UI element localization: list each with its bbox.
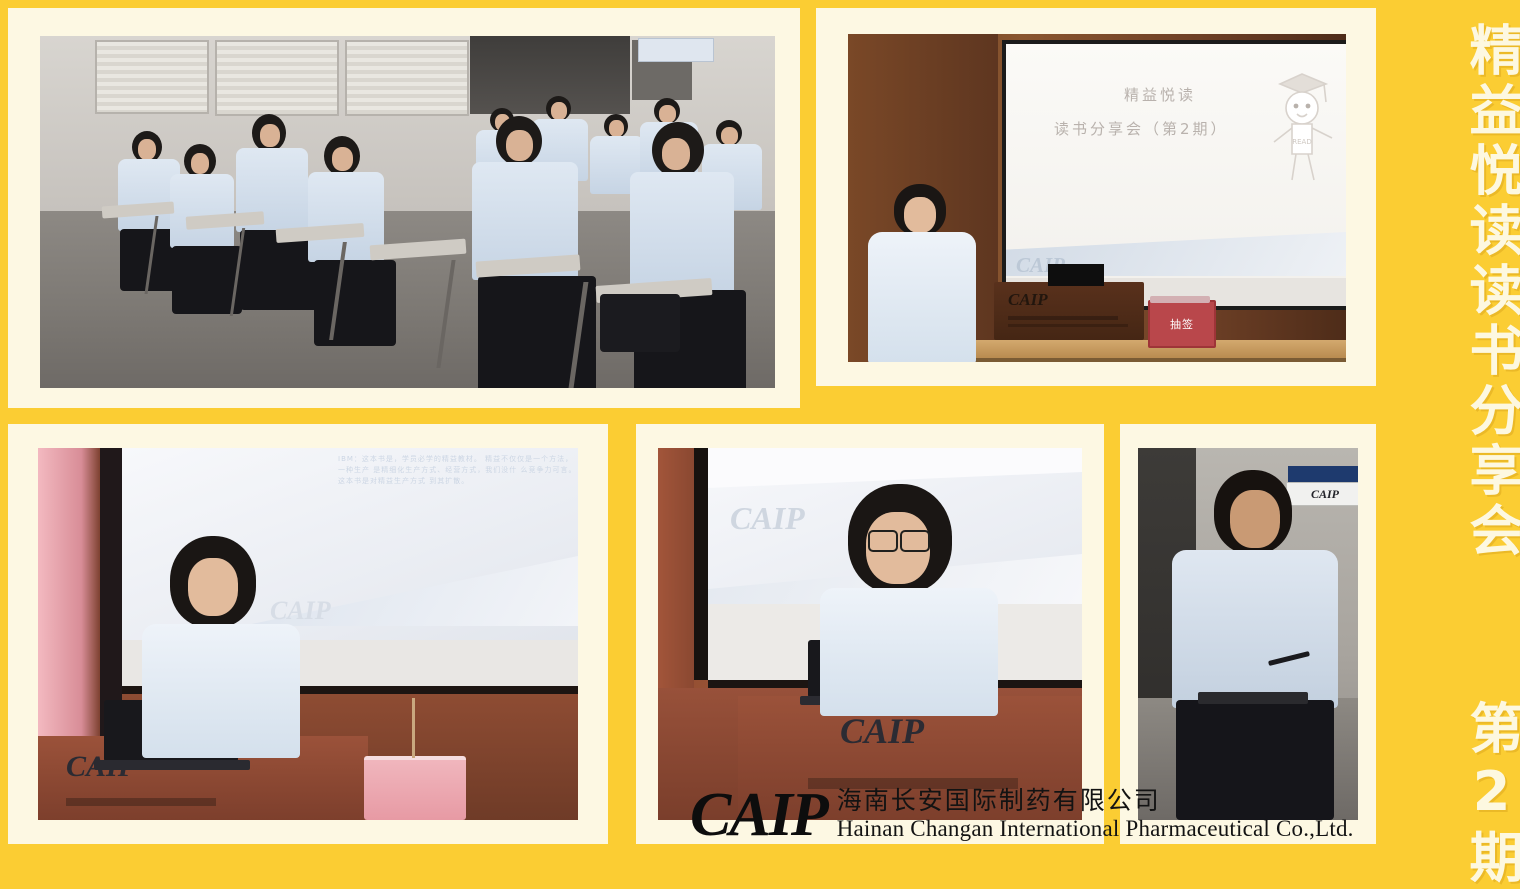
photo-frame-speaker-with-slide: 精益悦读 读书分享会（第2期） [816,8,1376,386]
lottery-box-label: 抽签 [1170,316,1194,332]
company-name-english: Hainan Changan International Pharmaceuti… [837,816,1354,842]
window-blind-3 [345,40,469,116]
empty-chair [600,294,680,352]
slide-body-text: IBM：这本书是，学员必学的精益教材。 精益不仅仅是一个方法，一种生产 是精细化… [338,454,578,487]
pink-lottery-box [364,756,466,820]
poster-canvas: 精益悦读 读书分享会（第2期） [0,0,1520,858]
photo-frame-presenter-right: CAIP [1120,424,1376,844]
company-logo-footer: CAIP 海南长安国际制药有限公司 Hainan Changan Interna… [690,784,1354,846]
slide-line2: 读书分享会（第2期） [1054,118,1229,139]
presenter-figure [868,184,978,362]
classroom-scene [40,36,775,388]
front-table-edge [966,358,1346,362]
window-blind-2 [215,40,339,116]
standing-man-figure [1172,470,1340,820]
glasses-right-lens [900,530,930,552]
wall-sign [638,38,714,62]
photo-frame-classroom-audience [8,8,800,408]
slide-line1: 精益悦读 [1124,84,1196,105]
podium-logo-caip: CAIP [1008,290,1048,310]
presenter-right-scene: CAIP [1138,448,1358,820]
caip-logo-mark: CAIP [690,784,827,846]
podium-logo-caip: CAIP [840,710,924,752]
window-blind-1 [95,40,209,114]
microphone-base [1048,264,1104,286]
lottery-box: 抽签 [1148,300,1216,348]
photo-speaker-with-slide: 精益悦读 读书分享会（第2期） [848,34,1346,362]
laptop-base [94,760,250,770]
svg-text:READ: READ [1292,138,1311,146]
belt [1198,692,1308,704]
photo-frame-presenter-left: IBM：这本书是，学员必学的精益教材。 精益不仅仅是一个方法，一种生产 是精细化… [8,424,608,844]
photo-presenter-middle: CAIP CAIP [658,448,1082,820]
glasses-left-lens [868,530,898,552]
presenter-figure [142,536,302,756]
pen-on-box [412,698,415,758]
presenter-middle-scene: CAIP CAIP [658,448,1082,820]
podium-company-text [66,798,216,806]
presenter-figure [820,484,1000,714]
vertical-title-column: 精益悦读读书分享会 第2期 [1388,0,1520,858]
photo-presenter-left: IBM：这本书是，学员必学的精益教材。 精益不仅仅是一个方法，一种生产 是精细化… [38,448,578,820]
photo-presenter-right: CAIP [1138,448,1358,820]
presenter-left-scene: IBM：这本书是，学员必学的精益教材。 精益不仅仅是一个方法，一种生产 是精细化… [38,448,578,820]
screen-left-edge [694,448,708,680]
company-name-chinese: 海南长安国际制药有限公司 [837,787,1354,816]
lottery-box-lid [1150,296,1210,303]
slide-top-band [708,448,1082,488]
graduate-mascot-icon: READ [1266,62,1338,184]
photo-classroom-audience [40,36,775,388]
podium: CAIP [994,282,1144,340]
podium-company-line1 [1008,316,1118,320]
meeting-room-scene: 精益悦读 读书分享会（第2期） [848,34,1346,362]
screen-watermark-caip: CAIP [730,500,805,537]
poster-vertical-title: 精益悦读读书分享会 第2期 [1388,22,1520,889]
podium-company-line2 [1008,324,1128,327]
